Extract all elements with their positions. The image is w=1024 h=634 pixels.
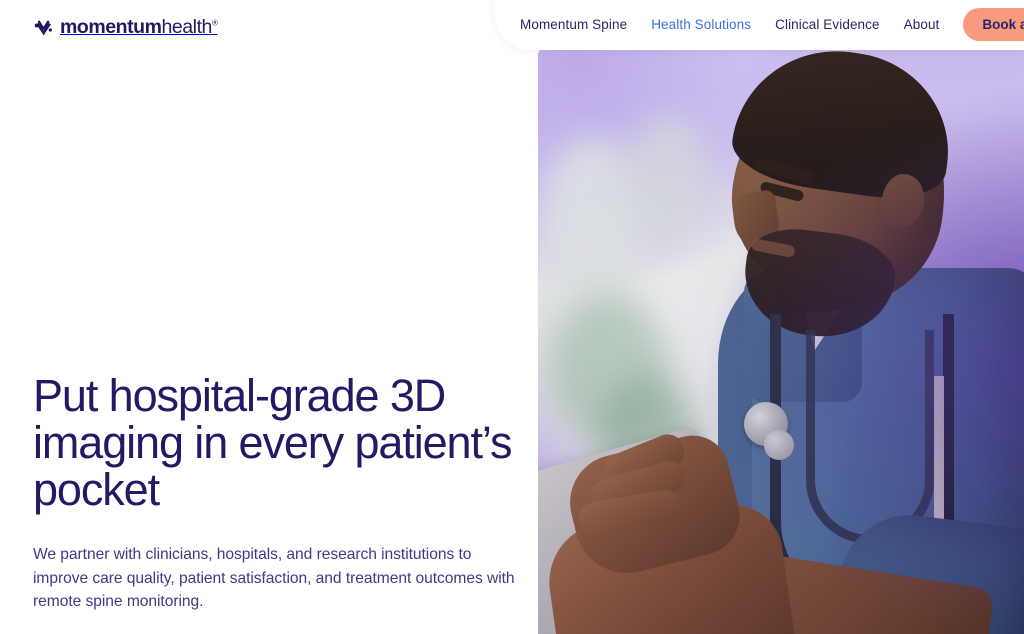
- hero-page: Momentum Spine Health Solutions Clinical…: [0, 0, 1024, 634]
- momentum-m-icon: [34, 18, 53, 37]
- primary-navigation: Momentum Spine Health Solutions Clinical…: [494, 0, 1024, 50]
- nav-item-clinical-evidence[interactable]: Clinical Evidence: [763, 11, 892, 38]
- brand-name-bold: momentum: [60, 16, 162, 38]
- stethoscope-diaphragm: [764, 430, 794, 460]
- hero-subcopy: We partner with clinicians, hospitals, a…: [33, 543, 515, 614]
- hero-headline: Put hospital-grade 3D imaging in every p…: [33, 372, 519, 513]
- brand-wordmark: momentumhealth®: [60, 18, 217, 38]
- nav-item-momentum-spine[interactable]: Momentum Spine: [508, 11, 639, 38]
- hero-image: [538, 46, 1024, 634]
- registered-trademark-symbol: ®: [212, 19, 217, 28]
- brand-name-light: health: [162, 16, 212, 38]
- hero-copy: Put hospital-grade 3D imaging in every p…: [33, 372, 519, 614]
- clinician-figure: [538, 46, 1024, 634]
- nav-item-health-solutions[interactable]: Health Solutions: [639, 11, 763, 38]
- nav-links: Momentum Spine Health Solutions Clinical…: [494, 8, 1024, 41]
- brand-logo[interactable]: momentumhealth®: [34, 18, 217, 38]
- nav-item-about[interactable]: About: [892, 11, 952, 38]
- book-a-demo-button[interactable]: Book a demo: [963, 8, 1024, 41]
